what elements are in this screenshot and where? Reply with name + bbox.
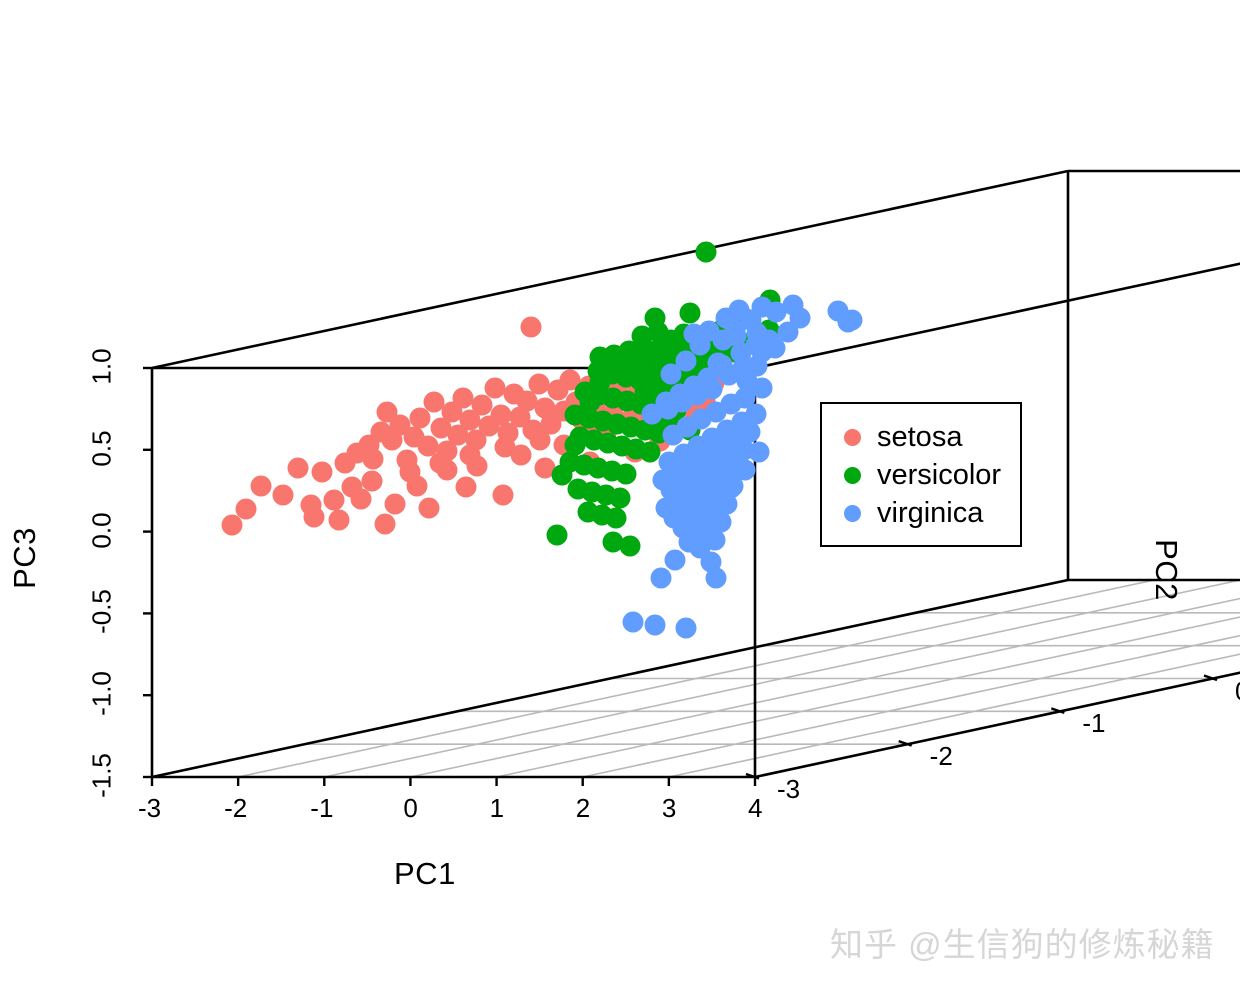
data-point	[273, 485, 294, 506]
data-point	[453, 388, 474, 409]
data-point	[251, 476, 272, 497]
top-edge-left	[152, 171, 1068, 368]
data-point	[616, 464, 637, 485]
data-point	[680, 303, 701, 324]
data-point	[424, 392, 445, 413]
data-point	[493, 485, 514, 506]
data-point	[430, 453, 451, 474]
data-point	[521, 317, 542, 338]
legend-label-versicolor: versicolor	[877, 461, 1001, 490]
data-point	[651, 568, 672, 589]
data-point	[721, 478, 742, 499]
data-point	[661, 330, 682, 351]
data-point	[590, 372, 611, 393]
data-point	[362, 471, 383, 492]
y-tick-label: -1.5	[87, 748, 118, 804]
data-point	[693, 514, 714, 535]
x-tick-label: -1	[310, 793, 333, 824]
data-point	[529, 374, 550, 395]
x-tick-label: 1	[490, 793, 504, 824]
data-point	[400, 462, 421, 483]
scatter3d-figure: PC1 PC3 PC2 -3-2-1012341.00.50.0-0.5-1.0…	[0, 0, 1240, 992]
data-point	[485, 378, 506, 399]
z-tick-label: -2	[930, 741, 953, 772]
data-point	[312, 462, 333, 483]
x-tick-label: 0	[403, 793, 417, 824]
x-tick-label: 3	[662, 793, 676, 824]
data-point	[324, 490, 345, 511]
data-point	[623, 612, 644, 633]
x-axis-title: PC1	[394, 856, 456, 892]
legend: setosa versicolor virginica	[820, 402, 1022, 547]
y-tick-label: 0.0	[87, 502, 118, 558]
data-point	[645, 615, 666, 636]
data-point	[632, 326, 653, 347]
data-point	[288, 458, 309, 479]
data-point	[565, 435, 586, 456]
legend-swatch-virginica	[844, 505, 861, 522]
data-point	[749, 442, 770, 463]
data-point	[491, 405, 512, 426]
x-tick-label: 4	[748, 793, 762, 824]
legend-swatch-versicolor	[844, 467, 861, 484]
data-point	[410, 408, 431, 429]
data-point	[456, 477, 477, 498]
data-point	[606, 508, 627, 529]
x-tick-label: -2	[224, 793, 247, 824]
data-point	[665, 550, 686, 571]
data-point	[706, 568, 727, 589]
y-tick-label: -1.0	[87, 666, 118, 722]
data-point	[663, 425, 684, 446]
legend-label-virginica: virginica	[877, 499, 983, 528]
data-point	[329, 510, 350, 531]
data-points-layer	[222, 242, 863, 639]
data-point	[679, 532, 700, 553]
data-point	[620, 536, 641, 557]
data-point	[236, 499, 257, 520]
floor-grid	[152, 580, 1240, 777]
watermark: 知乎 @生信狗的修炼秘籍	[830, 918, 1215, 966]
y-axis-title: PC3	[7, 527, 43, 589]
data-point	[725, 320, 746, 341]
data-point	[419, 498, 440, 519]
data-point	[472, 395, 493, 416]
top-edge-right	[755, 171, 1240, 368]
legend-label-setosa: setosa	[877, 423, 962, 452]
data-point	[304, 507, 325, 528]
data-point	[222, 515, 243, 536]
data-point	[377, 402, 398, 423]
data-point	[766, 302, 787, 323]
data-point	[385, 494, 406, 515]
data-point	[765, 338, 786, 359]
data-point	[375, 514, 396, 535]
data-point	[676, 618, 697, 639]
plot-canvas	[0, 0, 1240, 992]
data-point	[517, 391, 538, 412]
data-point	[790, 308, 811, 329]
z-tick-label: -1	[1082, 708, 1105, 739]
data-point	[363, 449, 384, 470]
legend-item-versicolor[interactable]: versicolor	[822, 456, 1020, 494]
y-tick-label: 0.5	[87, 420, 118, 476]
data-point	[530, 430, 551, 451]
data-point	[733, 358, 754, 379]
data-point	[842, 310, 863, 331]
z-tick-label: 0	[1235, 676, 1240, 707]
y-tick-label: 1.0	[87, 339, 118, 395]
data-point	[351, 489, 372, 510]
data-point	[460, 445, 481, 466]
data-point	[642, 404, 663, 425]
data-point	[418, 436, 439, 457]
x-tick-label: 2	[576, 793, 590, 824]
data-point	[661, 364, 682, 385]
data-point	[635, 382, 656, 403]
data-point	[707, 496, 728, 517]
data-point	[495, 437, 516, 458]
legend-item-setosa[interactable]: setosa	[822, 418, 1020, 456]
data-point	[696, 242, 717, 263]
data-point	[735, 460, 756, 481]
data-point	[752, 378, 773, 399]
data-point	[580, 392, 601, 413]
legend-item-virginica[interactable]: virginica	[822, 494, 1020, 532]
data-point	[552, 465, 573, 486]
data-point	[547, 525, 568, 546]
legend-swatch-setosa	[844, 429, 861, 446]
data-point	[610, 488, 631, 509]
y-tick-label: -0.5	[87, 584, 118, 640]
z-tick-label: -3	[777, 774, 800, 805]
data-point	[640, 442, 661, 463]
x-tick-label: -3	[138, 793, 161, 824]
data-point	[690, 335, 711, 356]
z-axis-title: PC2	[1148, 539, 1184, 601]
